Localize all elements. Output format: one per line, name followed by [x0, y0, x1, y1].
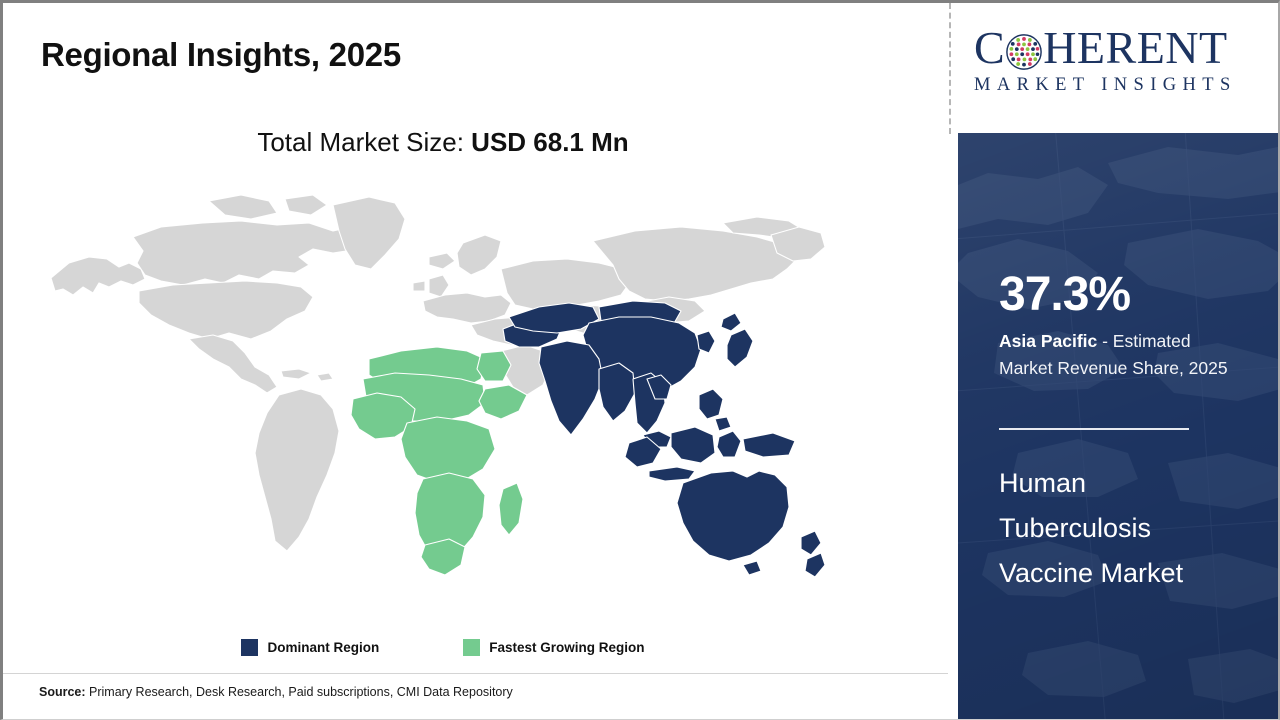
legend-label-fastest: Fastest Growing Region	[489, 640, 644, 655]
logo-wordmark-end: HERENT	[1043, 25, 1227, 71]
legend-swatch-dominant-icon	[241, 639, 258, 656]
legend-label-dominant: Dominant Region	[267, 640, 379, 655]
world-map-svg	[33, 183, 833, 623]
page-title: Regional Insights, 2025	[41, 36, 401, 74]
regional-stat-panel: 37.3% Asia Pacific - Estimated Market Re…	[958, 133, 1280, 720]
legend-item-fastest: Fastest Growing Region	[463, 639, 644, 656]
map-legend: Dominant Region Fastest Growing Region	[3, 639, 883, 656]
map-region-asia-pacific	[503, 301, 825, 577]
vertical-dashed-divider	[949, 3, 951, 134]
market-size-label: Total Market Size:	[257, 127, 471, 157]
source-bar: Source: Primary Research, Desk Research,…	[3, 673, 948, 719]
logo-wordmark-start: C	[974, 25, 1005, 71]
total-market-size: Total Market Size: USD 68.1 Mn	[3, 127, 883, 158]
source-label: Source:	[39, 685, 86, 699]
legend-swatch-fastest-icon	[463, 639, 480, 656]
panel-divider-rule	[999, 428, 1189, 430]
market-name: Human Tuberculosis Vaccine Market	[999, 461, 1239, 596]
stat-description: Asia Pacific - Estimated Market Revenue …	[999, 328, 1235, 382]
brand-logo: C	[958, 3, 1280, 133]
map-region-africa	[351, 347, 527, 575]
globe-dots-icon	[1006, 32, 1042, 68]
market-size-value: USD 68.1 Mn	[471, 127, 629, 157]
regional-insights-infographic: Regional Insights, 2025 Total Market Siz…	[0, 0, 1280, 720]
logo-inner: C	[974, 25, 1266, 96]
legend-item-dominant: Dominant Region	[241, 639, 379, 656]
stat-region-name: Asia Pacific	[999, 331, 1097, 351]
left-content-pane: Regional Insights, 2025 Total Market Siz…	[3, 3, 948, 719]
source-value: Primary Research, Desk Research, Paid su…	[86, 685, 513, 699]
source-text: Source: Primary Research, Desk Research,…	[39, 685, 513, 699]
logo-wordmark: C	[974, 25, 1266, 71]
logo-tagline: MARKET INSIGHTS	[974, 75, 1266, 96]
stat-value: 37.3%	[999, 271, 1130, 319]
panel-content: 37.3% Asia Pacific - Estimated Market Re…	[999, 133, 1244, 720]
world-map	[33, 183, 833, 623]
